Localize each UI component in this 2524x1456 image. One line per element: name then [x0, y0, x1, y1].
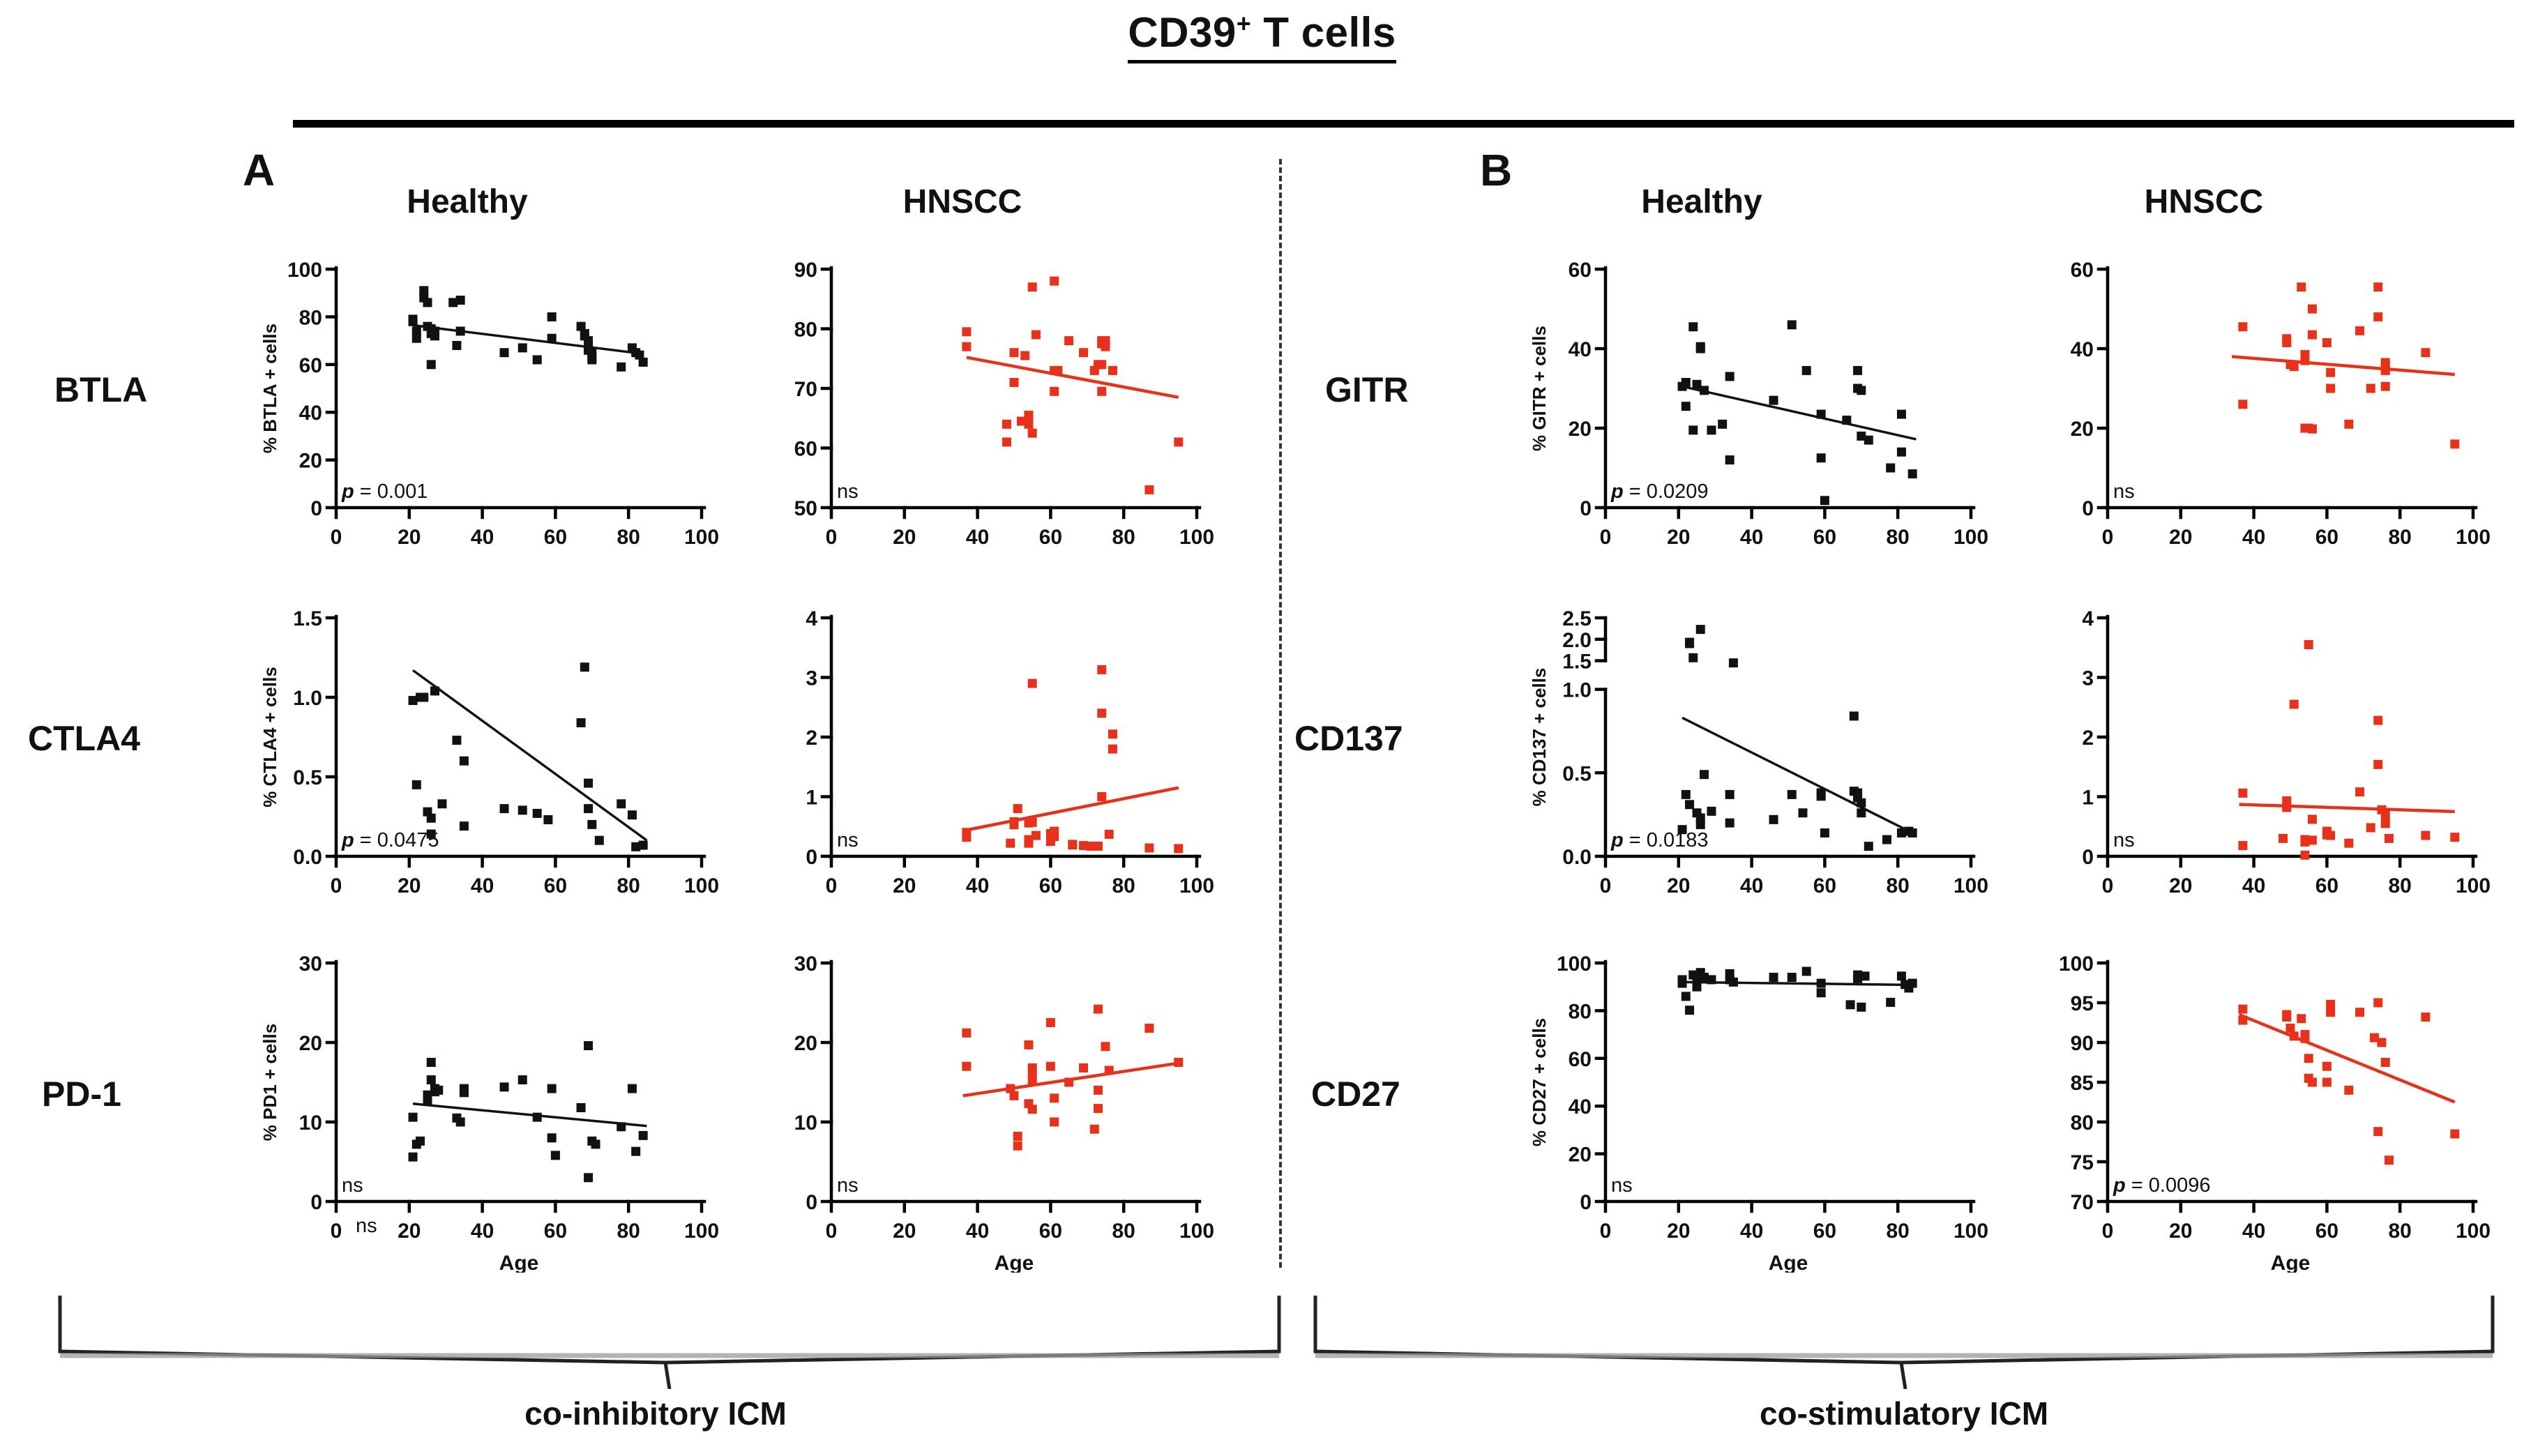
svg-text:ns: ns	[837, 1174, 859, 1197]
svg-text:60: 60	[2315, 526, 2338, 549]
svg-text:ns: ns	[2113, 829, 2135, 851]
svg-text:Age: Age	[2271, 1252, 2311, 1273]
svg-text:60: 60	[1569, 259, 1592, 282]
svg-text:80: 80	[2389, 874, 2412, 897]
scatter-plot-cd137-healthy: 0.00.51.01.52.02.5020406080100% CD137 + …	[1499, 600, 1988, 927]
svg-text:% GITR + cells: % GITR + cells	[1529, 326, 1550, 451]
scatter-plot-ctla4-hnscc: 01234020406080100ns	[725, 600, 1214, 927]
svg-text:60: 60	[544, 1220, 567, 1243]
scatter-plot-ctla4-healthy: 0.00.51.01.5020406080100% CTLA4 + cellsp…	[230, 600, 718, 927]
svg-text:0: 0	[1600, 874, 1612, 897]
svg-text:4: 4	[806, 607, 817, 630]
svg-text:30: 30	[299, 953, 322, 976]
svg-text:0: 0	[1600, 1220, 1612, 1243]
svg-text:1.5: 1.5	[1562, 651, 1592, 674]
svg-text:20: 20	[893, 1220, 916, 1243]
svg-text:100: 100	[287, 259, 322, 282]
figure-title-main: CD39	[1128, 9, 1236, 56]
panel-letter-b: B	[1480, 148, 1512, 192]
svg-text:ns: ns	[342, 1174, 363, 1197]
panel-divider	[1279, 159, 1282, 1268]
svg-text:p = 0.0096: p = 0.0096	[2113, 1174, 2210, 1197]
row-label-cd137: CD137	[1294, 718, 1403, 759]
svg-text:1.0: 1.0	[1562, 679, 1592, 702]
svg-text:0.0: 0.0	[1562, 846, 1592, 869]
svg-text:30: 30	[794, 953, 817, 976]
svg-text:50: 50	[794, 497, 817, 520]
svg-text:90: 90	[2071, 1032, 2094, 1055]
figure-title-superscript: +	[1237, 9, 1252, 38]
svg-text:100: 100	[1954, 1220, 1988, 1243]
svg-text:40: 40	[2071, 338, 2094, 361]
svg-text:100: 100	[684, 874, 718, 897]
svg-text:85: 85	[2071, 1072, 2094, 1095]
svg-text:100: 100	[684, 526, 718, 549]
svg-text:80: 80	[2389, 1220, 2412, 1243]
svg-text:80: 80	[1112, 526, 1135, 549]
svg-text:100: 100	[684, 1220, 718, 1243]
svg-text:20: 20	[2169, 1220, 2192, 1243]
svg-text:ns: ns	[837, 480, 859, 503]
svg-text:80: 80	[617, 526, 640, 549]
svg-text:p = 0.001: p = 0.001	[341, 480, 428, 503]
svg-text:80: 80	[1887, 526, 1910, 549]
svg-text:80: 80	[794, 319, 817, 342]
svg-text:0: 0	[331, 526, 342, 549]
svg-text:60: 60	[1039, 874, 1062, 897]
svg-text:40: 40	[299, 402, 322, 425]
svg-text:20: 20	[1569, 418, 1592, 441]
svg-text:20: 20	[893, 526, 916, 549]
svg-text:20: 20	[2169, 874, 2192, 897]
svg-text:20: 20	[398, 1220, 421, 1243]
svg-text:20: 20	[1667, 1220, 1690, 1243]
svg-text:40: 40	[2242, 874, 2265, 897]
figure-title: CD39+ T cells	[0, 8, 2524, 56]
svg-text:60: 60	[1813, 1220, 1836, 1243]
svg-text:60: 60	[299, 354, 322, 377]
svg-text:20: 20	[398, 526, 421, 549]
svg-text:p = 0.0183: p = 0.0183	[1610, 829, 1708, 851]
svg-text:20: 20	[794, 1032, 817, 1055]
svg-text:40: 40	[966, 874, 989, 897]
brace-co-stimulatory	[1311, 1291, 2497, 1393]
svg-text:20: 20	[299, 450, 322, 473]
svg-text:0: 0	[310, 497, 322, 520]
svg-text:Age: Age	[995, 1252, 1034, 1273]
column-header-a-hnscc: HNSCC	[816, 183, 1109, 221]
svg-text:% PD1 + cells: % PD1 + cells	[259, 1024, 280, 1141]
svg-text:0: 0	[826, 526, 838, 549]
svg-text:20: 20	[893, 874, 916, 897]
svg-text:90: 90	[794, 259, 817, 282]
svg-text:40: 40	[966, 1220, 989, 1243]
svg-text:80: 80	[1112, 874, 1135, 897]
svg-text:1: 1	[2082, 787, 2094, 810]
svg-text:100: 100	[2059, 953, 2094, 976]
svg-text:20: 20	[1569, 1144, 1592, 1167]
svg-text:40: 40	[966, 526, 989, 549]
svg-text:0.5: 0.5	[293, 766, 322, 789]
scatter-plot-cd27-hnscc: 707580859095100020406080100Agep = 0.0096	[2002, 945, 2490, 1273]
svg-text:0: 0	[826, 1220, 838, 1243]
svg-text:1: 1	[806, 787, 817, 810]
svg-text:80: 80	[1887, 874, 1910, 897]
scatter-plot-cd137-hnscc: 01234020406080100ns	[2002, 600, 2490, 927]
svg-text:40: 40	[471, 526, 494, 549]
svg-text:60: 60	[2315, 1220, 2338, 1243]
brace-co-inhibitory	[56, 1291, 1283, 1393]
svg-text:ns: ns	[356, 1215, 377, 1237]
svg-text:40: 40	[1569, 338, 1592, 361]
svg-text:p = 0.0209: p = 0.0209	[1610, 480, 1708, 503]
svg-text:60: 60	[1039, 1220, 1062, 1243]
svg-text:80: 80	[1887, 1220, 1910, 1243]
svg-text:0: 0	[2082, 846, 2094, 869]
icm-label-co-inhibitory: co-inhibitory ICM	[0, 1395, 1311, 1432]
svg-text:40: 40	[471, 874, 494, 897]
svg-text:20: 20	[1667, 874, 1690, 897]
svg-text:2.5: 2.5	[1562, 607, 1592, 630]
svg-text:2: 2	[2082, 727, 2094, 750]
svg-text:40: 40	[1740, 1220, 1763, 1243]
svg-text:100: 100	[2456, 1220, 2490, 1243]
svg-text:100: 100	[2456, 874, 2490, 897]
figure-title-rest: T cells	[1251, 9, 1396, 56]
svg-text:0: 0	[2102, 526, 2114, 549]
svg-text:20: 20	[1667, 526, 1690, 549]
svg-text:0: 0	[2082, 497, 2094, 520]
row-label-gitr: GITR	[1325, 370, 1408, 410]
header-divider-rule	[293, 120, 2514, 128]
scatter-plot-btla-hnscc: 5060708090020406080100ns	[725, 251, 1214, 579]
svg-text:20: 20	[398, 874, 421, 897]
svg-text:60: 60	[2071, 259, 2094, 282]
svg-text:60: 60	[1813, 526, 1836, 549]
svg-text:100: 100	[1954, 874, 1988, 897]
svg-text:0: 0	[806, 846, 817, 869]
svg-text:4: 4	[2082, 607, 2094, 630]
svg-text:100: 100	[1179, 1220, 1214, 1243]
svg-text:ns: ns	[2113, 480, 2135, 503]
svg-text:80: 80	[2071, 1112, 2094, 1135]
svg-text:60: 60	[2315, 874, 2338, 897]
svg-text:0.0: 0.0	[293, 846, 322, 869]
column-header-b-hnscc: HNSCC	[2057, 183, 2350, 221]
svg-text:100: 100	[1179, 874, 1214, 897]
svg-text:60: 60	[1813, 874, 1836, 897]
svg-text:0: 0	[310, 1191, 322, 1214]
svg-text:80: 80	[1112, 1220, 1135, 1243]
svg-text:40: 40	[2242, 1220, 2265, 1243]
svg-text:0: 0	[2102, 874, 2114, 897]
scatter-plot-btla-healthy: 020406080100020406080100% BTLA + cellsp …	[230, 251, 718, 579]
svg-text:10: 10	[794, 1112, 817, 1135]
row-label-pd1: PD-1	[42, 1074, 121, 1114]
svg-text:95: 95	[2071, 992, 2094, 1015]
svg-text:% CTLA4 + cells: % CTLA4 + cells	[259, 667, 280, 807]
svg-text:0: 0	[1580, 497, 1592, 520]
svg-text:40: 40	[1740, 874, 1763, 897]
row-label-btla: BTLA	[54, 370, 147, 410]
svg-text:100: 100	[1557, 953, 1592, 976]
svg-text:0: 0	[826, 874, 838, 897]
svg-text:70: 70	[2071, 1191, 2094, 1214]
svg-text:70: 70	[794, 378, 817, 401]
svg-text:100: 100	[1954, 526, 1988, 549]
svg-text:60: 60	[544, 526, 567, 549]
svg-text:60: 60	[1569, 1048, 1592, 1071]
svg-text:0.5: 0.5	[1562, 762, 1592, 785]
svg-text:80: 80	[617, 874, 640, 897]
row-label-cd27: CD27	[1311, 1074, 1400, 1114]
svg-text:ns: ns	[837, 829, 859, 851]
svg-text:0: 0	[1580, 1191, 1592, 1214]
svg-text:0: 0	[331, 874, 342, 897]
svg-text:% BTLA + cells: % BTLA + cells	[259, 324, 280, 453]
svg-text:2: 2	[806, 727, 817, 750]
svg-text:Age: Age	[1769, 1252, 1808, 1273]
svg-text:80: 80	[617, 1220, 640, 1243]
svg-text:80: 80	[1569, 1000, 1592, 1023]
svg-text:0: 0	[1600, 526, 1612, 549]
svg-text:20: 20	[299, 1032, 322, 1055]
scatter-plot-pd1-healthy: 0102030020406080100% PD1 + cellsAgensns	[230, 945, 718, 1273]
scatter-plot-gitr-hnscc: 0204060020406080100ns	[2002, 251, 2490, 579]
column-header-b-healthy: Healthy	[1555, 183, 1848, 221]
row-label-ctla4: CTLA4	[28, 718, 140, 759]
svg-text:40: 40	[1740, 526, 1763, 549]
svg-text:40: 40	[2242, 526, 2265, 549]
svg-text:40: 40	[1569, 1095, 1592, 1118]
svg-text:0: 0	[2102, 1220, 2114, 1243]
svg-text:60: 60	[794, 438, 817, 461]
svg-text:10: 10	[299, 1112, 322, 1135]
svg-text:% CD137 + cells: % CD137 + cells	[1529, 668, 1550, 807]
svg-text:% CD27 + cells: % CD27 + cells	[1529, 1018, 1550, 1146]
svg-text:0: 0	[331, 1220, 342, 1243]
svg-text:60: 60	[544, 874, 567, 897]
svg-text:100: 100	[1179, 526, 1214, 549]
svg-text:100: 100	[2456, 526, 2490, 549]
scatter-plot-pd1-hnscc: 0102030020406080100Agens	[725, 945, 1214, 1273]
svg-text:1.0: 1.0	[293, 687, 322, 710]
svg-text:20: 20	[2071, 418, 2094, 441]
column-header-a-healthy: Healthy	[321, 183, 614, 221]
svg-text:80: 80	[2389, 526, 2412, 549]
svg-text:ns: ns	[1611, 1174, 1633, 1197]
svg-text:3: 3	[806, 667, 817, 690]
svg-text:40: 40	[471, 1220, 494, 1243]
panel-letter-a: A	[243, 148, 275, 192]
svg-text:0: 0	[806, 1191, 817, 1214]
scatter-plot-cd27-healthy: 020406080100020406080100% CD27 + cellsAg…	[1499, 945, 1988, 1273]
svg-text:1.5: 1.5	[293, 607, 322, 630]
icm-label-co-stimulatory: co-stimulatory ICM	[1311, 1395, 2497, 1432]
svg-text:Age: Age	[499, 1252, 539, 1273]
svg-text:60: 60	[1039, 526, 1062, 549]
svg-text:2.0: 2.0	[1562, 629, 1592, 652]
svg-text:80: 80	[299, 306, 322, 329]
svg-text:75: 75	[2071, 1151, 2094, 1174]
svg-text:p = 0.0475: p = 0.0475	[341, 829, 439, 851]
svg-text:20: 20	[2169, 526, 2192, 549]
svg-text:3: 3	[2082, 667, 2094, 690]
scatter-plot-gitr-healthy: 0204060020406080100% GITR + cellsp = 0.0…	[1499, 251, 1988, 579]
